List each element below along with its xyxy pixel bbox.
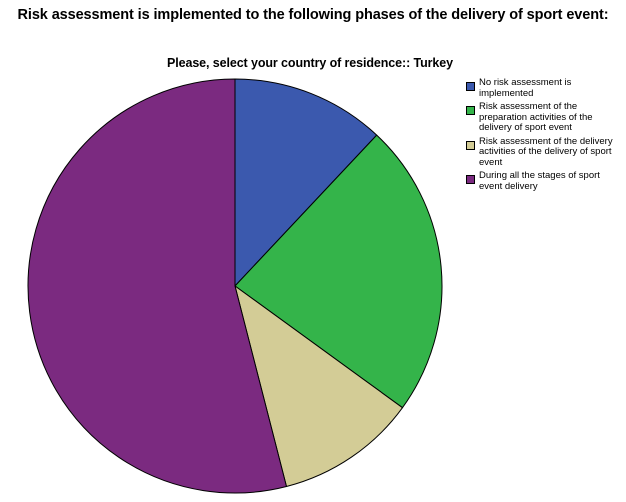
- pie-chart-figure: Risk assessment is implemented to the fo…: [0, 0, 626, 501]
- legend-item-label: Risk assessment of the delivery activiti…: [479, 136, 621, 169]
- legend-swatch-no-risk-assessment: [466, 82, 475, 91]
- legend-swatch-preparation-activities: [466, 106, 475, 115]
- legend-item-1[interactable]: No risk assessment is implemented: [466, 77, 624, 99]
- chart-title: Risk assessment is implemented to the fo…: [8, 6, 618, 25]
- legend-item-3[interactable]: Risk assessment of the delivery activiti…: [466, 136, 624, 169]
- pie-slices-group: [28, 79, 442, 493]
- pie-svg: [20, 70, 452, 502]
- legend-item-4[interactable]: During all the stages of sport event del…: [466, 170, 624, 192]
- legend-swatch-all-stages: [466, 175, 475, 184]
- chart-legend: No risk assessment is implementedRisk as…: [466, 77, 624, 194]
- chart-subtitle: Please, select your country of residence…: [10, 56, 610, 70]
- legend-item-2[interactable]: Risk assessment of the preparation activ…: [466, 101, 624, 134]
- legend-item-label: No risk assessment is implemented: [479, 77, 621, 99]
- legend-item-label: Risk assessment of the preparation activ…: [479, 101, 621, 134]
- pie-plot-area: [20, 70, 452, 502]
- legend-item-label: During all the stages of sport event del…: [479, 170, 621, 192]
- legend-swatch-delivery-activities: [466, 141, 475, 150]
